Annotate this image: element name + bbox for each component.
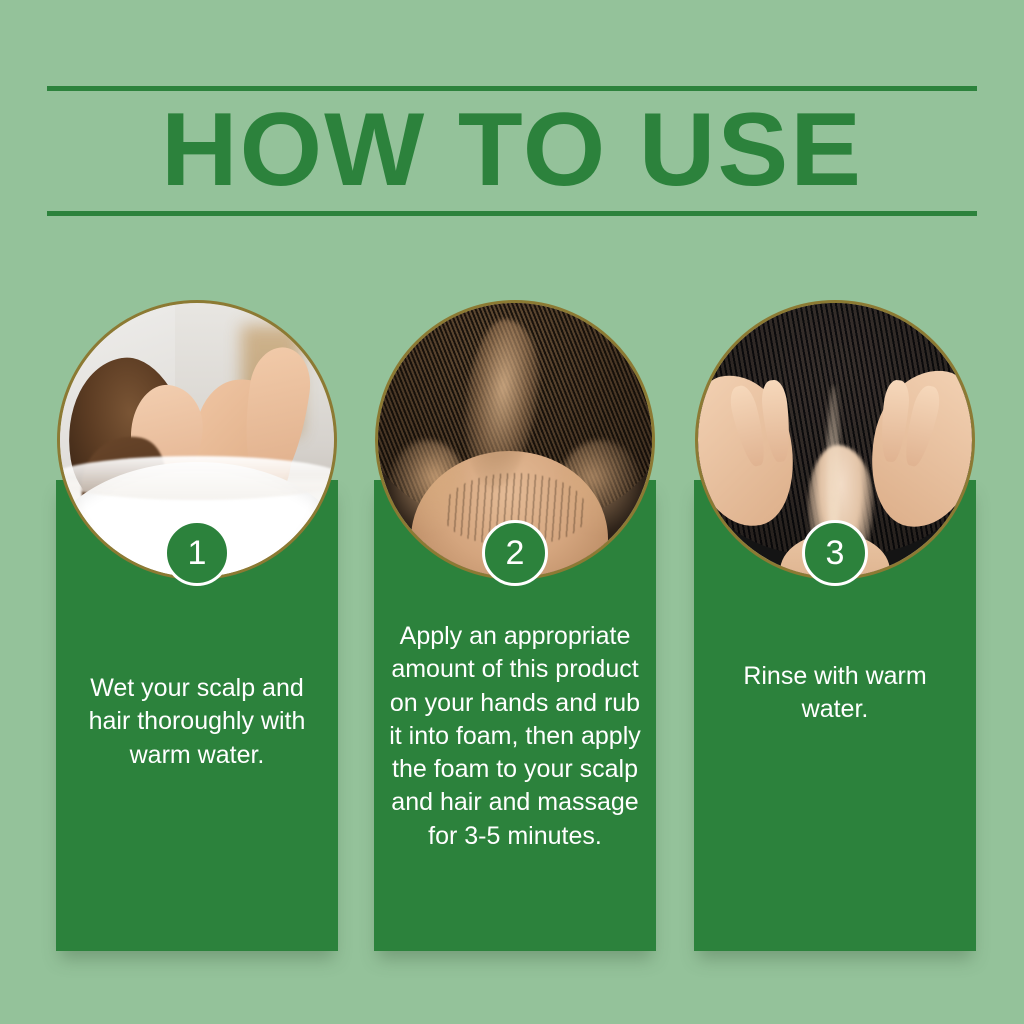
step-description-2: Apply an appropriate amount of this prod… [388, 620, 642, 853]
steps-container: 1 Wet your scalp and hair thoroughly wit… [0, 0, 1024, 1024]
step-card-2: 2 Apply an appropriate amount of this pr… [374, 480, 656, 951]
step-description-1: Wet your scalp and hair thoroughly with … [70, 672, 324, 772]
step-number-badge-1: 1 [164, 520, 230, 586]
step-card-1: 1 Wet your scalp and hair thoroughly wit… [56, 480, 338, 951]
step-card-3: 3 Rinse with warm water. [694, 480, 976, 951]
step-number-badge-2: 2 [482, 520, 548, 586]
step-number-badge-3: 3 [802, 520, 868, 586]
step-description-3: Rinse with warm water. [708, 660, 962, 727]
